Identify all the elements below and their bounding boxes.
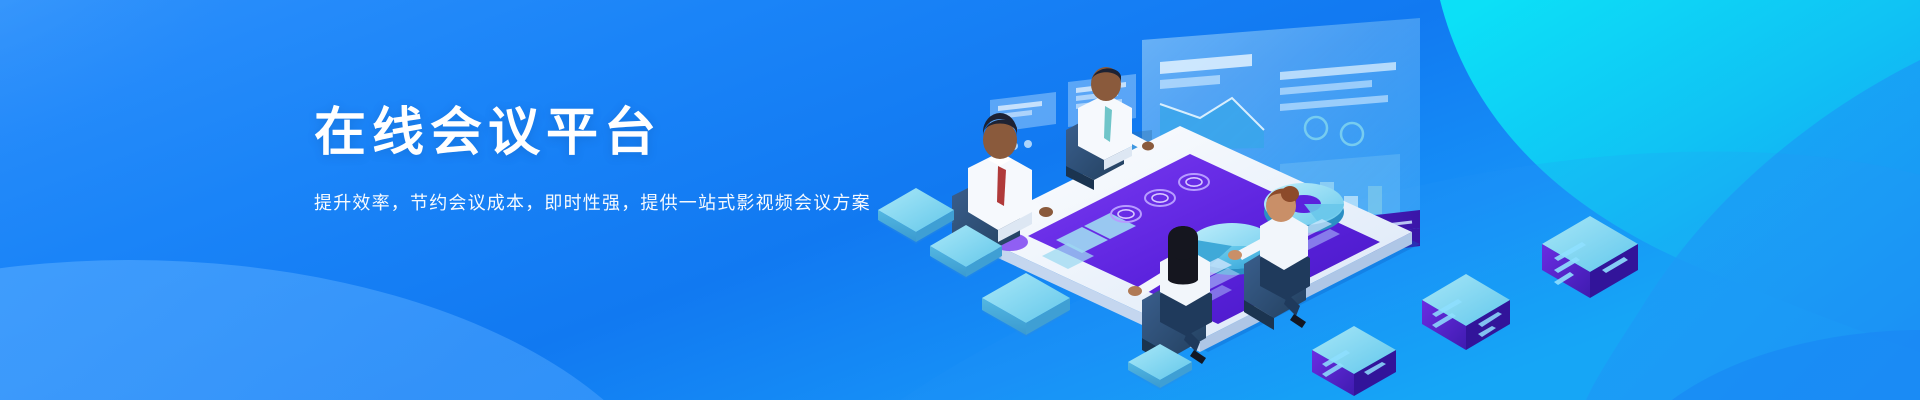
server-cube-3 bbox=[1542, 216, 1638, 298]
page-subtitle: 提升效率，节约会议成本，即时性强，提供一站式影视频会议方案 bbox=[314, 190, 1074, 217]
banner-copy: 在线会议平台 提升效率，节约会议成本，即时性强，提供一站式影视频会议方案 bbox=[314, 104, 1074, 217]
hero-banner: 在线会议平台 提升效率，节约会议成本，即时性强，提供一站式影视频会议方案 bbox=[0, 0, 1920, 400]
server-cube-2 bbox=[1422, 274, 1510, 350]
server-cube-1 bbox=[1312, 326, 1396, 396]
page-title: 在线会议平台 bbox=[314, 104, 1074, 164]
